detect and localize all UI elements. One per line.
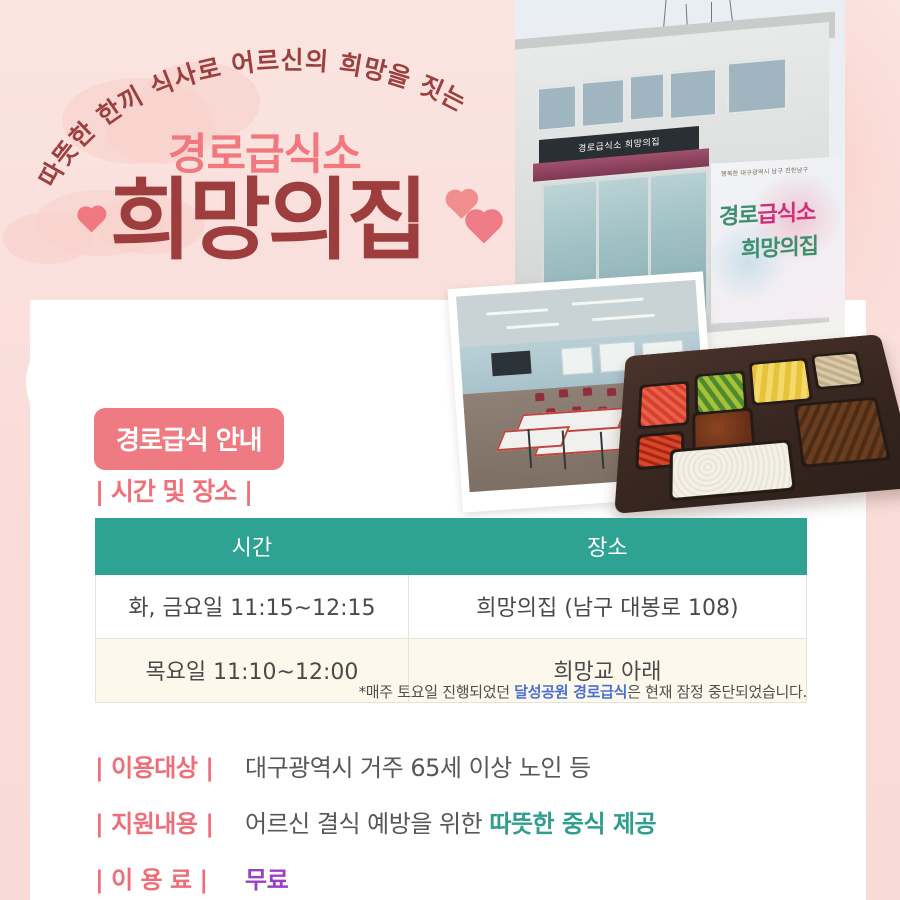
footnote: *매주 토요일 진행되었던 달성공원 경로급식은 현재 잠정 중단되었습니다. [359,681,807,702]
info-value: 무료 [245,860,288,895]
footnote-highlight: 달성공원 경로급식 [514,683,627,701]
info-value-accent: 따뜻한 중식 제공 [489,810,656,838]
table-header-row: 시간 장소 [96,519,807,575]
meal-tray-photo [613,318,900,514]
info-value: 어르신 결식 예방을 위한 따뜻한 중식 제공 [245,804,656,839]
cell-place: 희망의집 (남구 대봉로 108) [408,575,806,639]
info-row-eligibility: | 이용대상 | 대구광역시 거주 65세 이상 노인 등 [95,748,855,783]
table-row: 화, 금요일 11:15~12:15 희망의집 (남구 대봉로 108) [96,575,807,639]
poster-root: 따뜻한 한끼 식사로 어르신의 희망을 짓는 경로급식소 희망의집 경로급식소 … [0,0,900,900]
schedule-table: 시간 장소 화, 금요일 11:15~12:15 희망의집 (남구 대봉로 10… [95,518,807,703]
footnote-suffix: 은 현재 잠정 중단되었습니다. [627,683,807,701]
info-value-accent: 무료 [245,866,288,894]
section-label: | 시간 및 장소 | [95,472,252,508]
column-header-time: 시간 [96,519,409,575]
info-key: | 이 용 료 | [95,860,245,895]
column-header-place: 장소 [408,519,806,575]
photo-collage: 경로급식소 희망의집 행복한 대구광역시 남구 전한남구 경로급식소 희망의집 [455,0,900,470]
info-list: | 이용대상 | 대구광역시 거주 65세 이상 노인 등 | 지원내용 | 어… [95,748,855,900]
page-title: 희망의집 [110,176,426,265]
info-row-support: | 지원내용 | 어르신 결식 예방을 위한 따뜻한 중식 제공 [95,804,855,839]
building-banner: 행복한 대구광역시 남구 전한남구 경로급식소 희망의집 [711,156,845,323]
section-badge: 경로급식 안내 [94,408,284,470]
banner-line1-b: 급식소 [757,199,815,227]
info-key: | 이용대상 | [95,748,245,783]
info-key: | 지원내용 | [95,804,245,839]
info-value-pre: 어르신 결식 예방을 위한 [245,810,489,838]
banner-line1-a: 경로 [719,202,757,229]
cell-time: 화, 금요일 11:15~12:15 [96,575,409,639]
info-row-fee: | 이 용 료 | 무료 [95,860,855,895]
info-value: 대구광역시 거주 65세 이상 노인 등 [245,748,591,783]
banner-line2: 희망의집 [741,228,818,264]
heart-icon [83,212,100,229]
footnote-prefix: *매주 토요일 진행되었던 [359,683,515,701]
